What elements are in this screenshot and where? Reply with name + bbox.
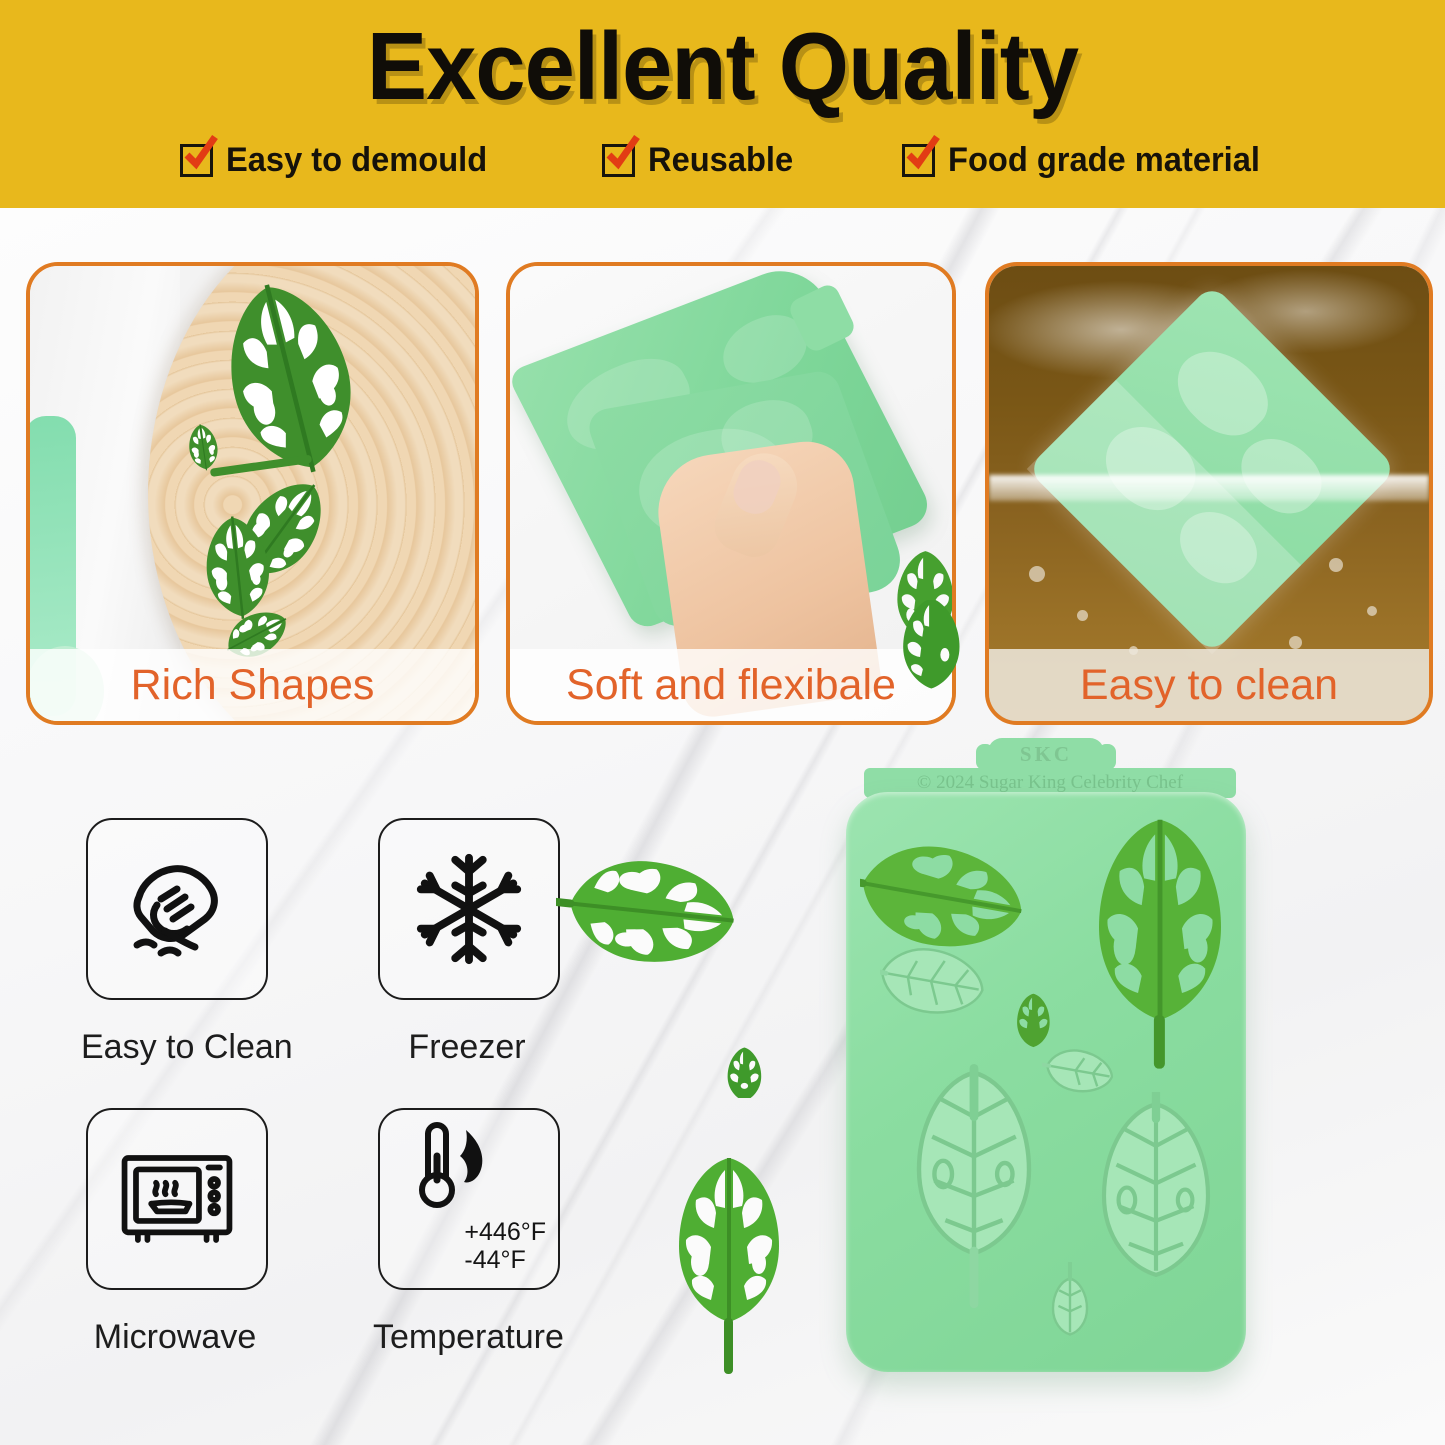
leaf-between-cards [896,600,984,730]
check-label: Reusable [648,141,793,180]
bubble [1029,566,1045,582]
cavity-empty-1 [880,926,1008,1044]
leaf-tiny-1 [186,422,220,472]
water-surface-line [989,475,1429,501]
card-caption: Easy to clean [989,649,1429,721]
temperature-min: -44°F [464,1246,546,1274]
temperature-max: +446°F [464,1218,546,1246]
feature-check-list: Easy to demould Reusable Food grade mate… [0,132,1445,188]
checkbox-checked-icon [180,144,213,177]
feature-icon-grid: Easy to Clean [86,818,586,1378]
feature-label: Freezer [373,1028,561,1067]
feature-easy-to-clean: Easy to Clean [86,818,266,1067]
checkmark-glyph [904,135,940,171]
bubble [1367,606,1377,616]
feature-microwave: Microwave [86,1108,266,1357]
feature-tile [86,818,268,1000]
brand-mark: SKC [988,742,1104,767]
checkbox-checked-icon [602,144,635,177]
temperature-range: +446°F -44°F [464,1218,546,1274]
mold-cavity [1090,408,1209,527]
feature-card-easy-clean: Easy to clean [985,262,1433,725]
bubble [1289,636,1302,649]
checkmark-glyph [604,135,640,171]
mold-tray [846,792,1246,1372]
card-caption: Soft and flexibale [510,649,952,721]
check-item-reusable: Reusable [602,141,799,180]
feature-label: Microwave [81,1318,269,1357]
cavity-empty-5 [1034,1262,1104,1340]
check-label: Food grade material [948,141,1260,180]
silicone-mold-main: SKC © 2024 Sugar King Celebrity Chef [836,738,1256,1378]
wiping-hand-cloth-icon [117,849,237,969]
feature-tile [86,1108,268,1290]
card-caption-text: Rich Shapes [131,661,375,710]
product-infographic: Excellent Quality Easy to demould Reusab… [0,0,1445,1445]
feature-card-soft-flexible: Soft and flexibale [506,262,956,725]
feature-label: Easy to Clean [81,1028,269,1067]
check-label: Easy to demould [226,141,487,180]
check-item-demould: Easy to demould [180,141,498,180]
mold-cavity [1163,333,1282,452]
bubble [1077,610,1088,621]
card-caption: Rich Shapes [30,649,475,721]
card-caption-text: Easy to clean [1080,661,1338,710]
feature-temperature: +446°F -44°F Temperature [378,1108,558,1357]
bubble [1329,558,1343,572]
cavity-leaf-filled-2 [1032,810,1246,1072]
cavity-empty-3 [864,1058,1054,1348]
microwave-oven-icon [115,1137,239,1261]
feature-card-rich-shapes: Rich Shapes [26,262,479,725]
feature-label: Temperature [373,1318,561,1357]
card-caption-text: Soft and flexibale [566,661,896,710]
snowflake-icon [410,850,528,968]
copyright-text: © 2024 Sugar King Celebrity Chef [864,772,1236,794]
checkbox-checked-icon [902,144,935,177]
loose-leaf-large [556,812,772,1002]
feature-card-row: Rich Shapes [0,262,1445,717]
feature-tile: +446°F -44°F [378,1108,560,1290]
mold-cavity [1167,496,1269,598]
loose-leaf-medium [636,1150,822,1374]
page-title: Excellent Quality [43,17,1401,117]
loose-leaf-tiny [706,1042,766,1098]
check-item-food-grade: Food grade material [902,141,1273,180]
checkmark-glyph [182,135,218,171]
feature-freezer: Freezer [378,818,558,1067]
feature-tile [378,818,560,1000]
header-banner: Excellent Quality Easy to demould Reusab… [0,0,1445,208]
